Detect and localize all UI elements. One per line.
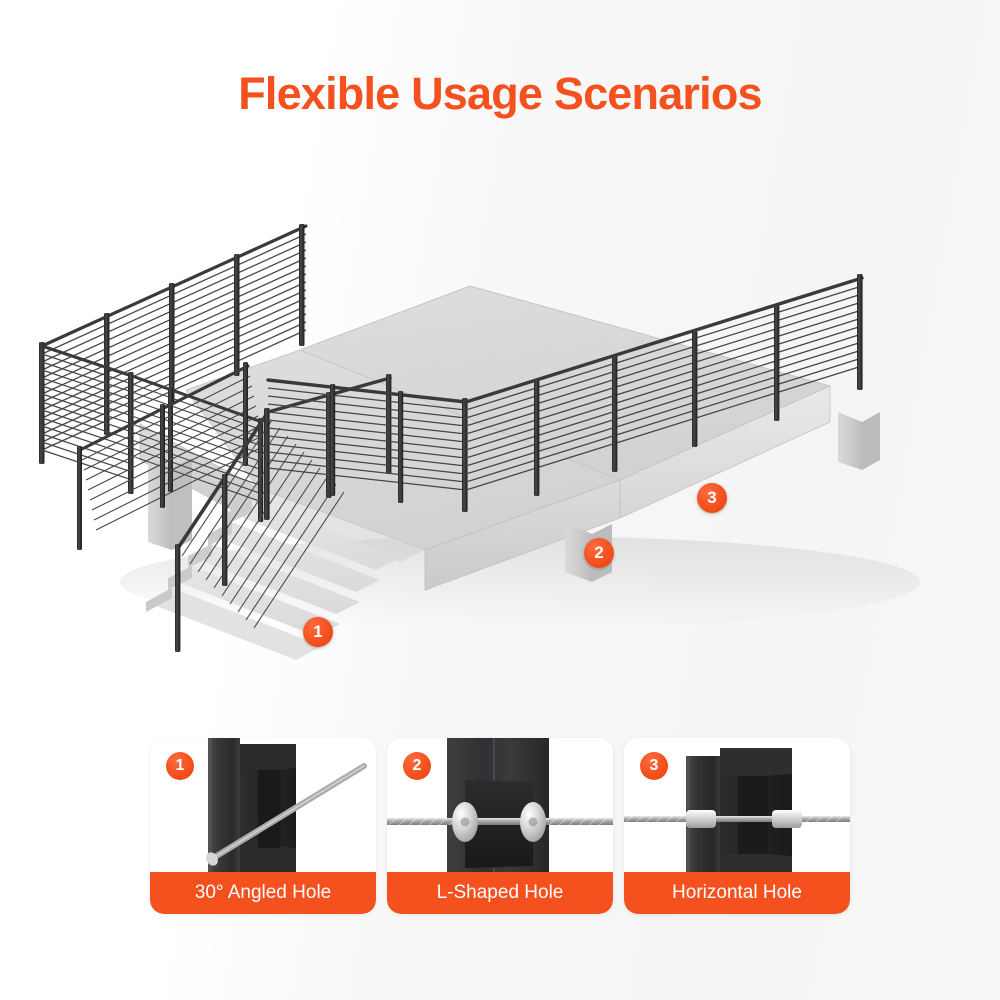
hero-callout-2[interactable]: 2 <box>584 538 614 568</box>
fitting-left <box>686 810 716 828</box>
hero-callout-1[interactable]: 1 <box>303 617 333 647</box>
panel-badge-3: 3 <box>640 752 668 780</box>
feature-panel-angled-hole[interactable]: 1 30° Angled Hole <box>150 738 376 914</box>
panel-label-3: Horizontal Hole <box>624 872 850 914</box>
horizontal-cable <box>387 818 613 825</box>
hero-illustration: 1 2 3 <box>0 150 1000 670</box>
feature-panel-l-shaped-hole[interactable]: 2 L-Shaped Hole <box>387 738 613 914</box>
fitting-right <box>772 810 802 828</box>
hero-callout-3[interactable]: 3 <box>697 483 727 513</box>
panel-label-2: L-Shaped Hole <box>387 872 613 914</box>
panel-label-1: 30° Angled Hole <box>150 872 376 914</box>
feature-panel-horizontal-hole[interactable]: 3 Horizontal Hole <box>624 738 850 914</box>
panel-badge-2: 2 <box>403 752 431 780</box>
feature-panels: 1 30° Angled Hole <box>150 738 850 914</box>
panel-badge-1: 1 <box>166 752 194 780</box>
page-title: Flexible Usage Scenarios <box>0 68 1000 120</box>
infographic-page: Flexible Usage Scenarios <box>0 0 1000 1000</box>
